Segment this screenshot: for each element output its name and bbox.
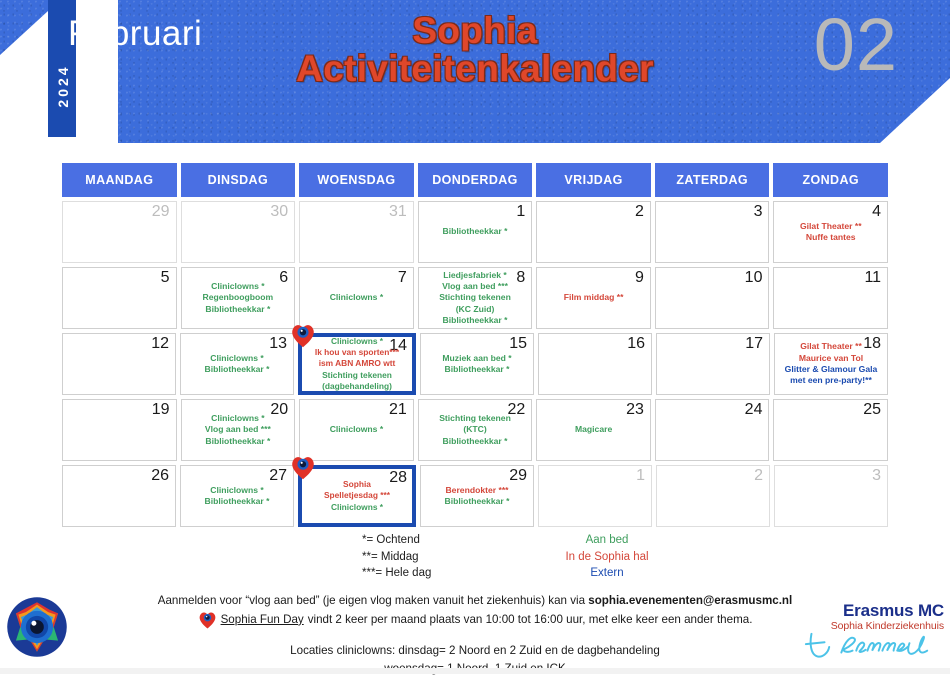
day-number: 24 xyxy=(745,401,763,419)
calendar-week-row: 1920Cliniclowns *Vlog aan bed ***Bibliot… xyxy=(62,399,888,461)
day-number: 16 xyxy=(627,335,645,353)
day-number: 25 xyxy=(863,401,881,419)
event-label: Bibliotheekkar * xyxy=(424,496,530,507)
day-header-donderdag: DONDERDAG xyxy=(418,163,533,197)
legend-timing-item: *= Ochtend xyxy=(362,532,512,549)
footer-email[interactable]: sophia.evenementen@erasmusmc.nl xyxy=(588,594,792,607)
event-label: Magicare xyxy=(540,424,647,435)
day-number: 29 xyxy=(152,203,170,221)
event-label: Cliniclowns * xyxy=(304,336,410,347)
event-label: Film middag ** xyxy=(540,292,647,303)
day-cell-18[interactable]: 18Gilat Theater **Maurice van TolGlitter… xyxy=(774,333,888,395)
calendar-weeks: 2930311Bibliotheekkar *234Gilat Theater … xyxy=(62,201,888,527)
event-label: Cliniclowns * xyxy=(185,281,292,292)
heart-eye-icon xyxy=(198,611,217,629)
day-cell-1[interactable]: 1 xyxy=(538,465,652,527)
day-events: Liedjesfabriek *Vlog aan bed ***Stichtin… xyxy=(422,270,529,326)
footer-funday-link[interactable]: Sophia Fun Day xyxy=(221,611,304,630)
event-label: Cliniclowns * xyxy=(303,424,410,435)
legend-locations: Aan bedIn de Sophia halExtern xyxy=(517,532,697,582)
day-cell-4[interactable]: 4Gilat Theater **Nuffe tantes xyxy=(773,201,888,263)
calendar-grid: MAANDAGDINSDAGWOENSDAGDONDERDAGVRIJDAGZA… xyxy=(62,163,888,531)
event-label: (KTC) xyxy=(422,424,529,435)
day-cell-14[interactable]: 14Cliniclowns *Ik hou van sporten***ism … xyxy=(298,333,416,395)
day-cell-30[interactable]: 30 xyxy=(181,201,296,263)
day-number: 2 xyxy=(635,203,644,221)
day-events: SophiaSpelletjesdag ***Cliniclowns * xyxy=(304,470,410,522)
day-cell-20[interactable]: 20Cliniclowns *Vlog aan bed ***Bibliothe… xyxy=(181,399,296,461)
event-label: Regenboogboom xyxy=(185,292,292,303)
day-number: 26 xyxy=(151,467,169,485)
event-label: Bibliotheekkar * xyxy=(422,436,529,447)
bottom-rule xyxy=(0,668,950,674)
event-label: Glitter & Glamour Gala xyxy=(778,364,884,375)
event-label: Bibliotheekkar * xyxy=(184,496,290,507)
sophia-fun-day-logo xyxy=(6,596,68,658)
day-number: 19 xyxy=(152,401,170,419)
erasmus-mc-name: Erasmus MC xyxy=(804,602,944,619)
calendar-week-row: 2930311Bibliotheekkar *234Gilat Theater … xyxy=(62,201,888,263)
day-cell-28[interactable]: 28SophiaSpelletjesdag ***Cliniclowns * xyxy=(298,465,416,527)
day-number: 31 xyxy=(389,203,407,221)
day-cell-15[interactable]: 15Muziek aan bed *Bibliotheekkar * xyxy=(420,333,534,395)
event-label: Sophia xyxy=(304,479,410,490)
erasmus-script-mark xyxy=(804,630,944,667)
day-cell-22[interactable]: 22Stichting tekenen(KTC)Bibliotheekkar * xyxy=(418,399,533,461)
day-cell-2[interactable]: 2 xyxy=(536,201,651,263)
day-cell-3[interactable]: 3 xyxy=(774,465,888,527)
event-label: Bibliotheekkar * xyxy=(185,304,292,315)
legend-location-item: In de Sophia hal xyxy=(517,549,697,566)
day-number: 11 xyxy=(864,269,881,287)
legend-timing-item: **= Middag xyxy=(362,549,512,566)
day-events: Cliniclowns *Bibliotheekkar * xyxy=(184,468,290,524)
legend-location-item: Aan bed xyxy=(517,532,697,549)
day-number: 3 xyxy=(754,203,763,221)
heart-eye-icon xyxy=(290,323,316,348)
day-header-vrijdag: VRIJDAG xyxy=(536,163,651,197)
day-cell-19[interactable]: 19 xyxy=(62,399,177,461)
day-cell-23[interactable]: 23Magicare xyxy=(536,399,651,461)
month-number: 02 xyxy=(814,2,898,87)
day-cell-3[interactable]: 3 xyxy=(655,201,770,263)
event-label: Ik hou van sporten*** xyxy=(304,347,410,358)
day-cell-2[interactable]: 2 xyxy=(656,465,770,527)
event-label: Cliniclowns * xyxy=(304,502,410,513)
event-label: Nuffe tantes xyxy=(777,232,884,243)
day-cell-24[interactable]: 24 xyxy=(655,399,770,461)
erasmus-mc-logo: Erasmus MC Sophia Kinderziekenhuis xyxy=(804,602,944,668)
legend-timing: *= Ochtend**= Middag***= Hele dag xyxy=(362,532,512,582)
day-events: Cliniclowns *Ik hou van sporten***ism AB… xyxy=(304,338,410,390)
event-label: Gilat Theater ** xyxy=(778,341,884,352)
day-events: Cliniclowns *Vlog aan bed ***Bibliotheek… xyxy=(185,402,292,458)
day-events: Gilat Theater **Maurice van TolGlitter &… xyxy=(778,336,884,392)
event-label: Muziek aan bed * xyxy=(424,353,530,364)
day-header-dinsdag: DINSDAG xyxy=(181,163,296,197)
footer-signup-text: Aanmelden voor “vlog aan bed” (je eigen … xyxy=(158,594,589,607)
calendar-day-headers: MAANDAGDINSDAGWOENSDAGDONDERDAGVRIJDAGZA… xyxy=(62,163,888,197)
day-header-maandag: MAANDAG xyxy=(62,163,177,197)
day-cell-25[interactable]: 25 xyxy=(773,399,888,461)
day-number: 5 xyxy=(161,269,170,287)
month-name: Februari xyxy=(68,14,202,54)
event-label: Bibliotheekkar * xyxy=(424,364,530,375)
event-label: Berendokter *** xyxy=(424,485,530,496)
event-label: met een pre-party!** xyxy=(778,375,884,386)
day-cell-27[interactable]: 27Cliniclowns *Bibliotheekkar * xyxy=(180,465,294,527)
day-number: 30 xyxy=(270,203,288,221)
day-events: Cliniclowns *Bibliotheekkar * xyxy=(184,336,290,392)
event-label: Liedjesfabriek * xyxy=(422,270,529,281)
day-events: Gilat Theater **Nuffe tantes xyxy=(777,204,884,260)
event-label: Stichting tekenen xyxy=(304,370,410,381)
page-header: 2024 Februari 02 Sophia Activiteitenkale… xyxy=(0,0,950,150)
day-header-woensdag: WOENSDAG xyxy=(299,163,414,197)
day-cell-13[interactable]: 13Cliniclowns *Bibliotheekkar * xyxy=(180,333,294,395)
legend-location-item: Extern xyxy=(517,565,697,582)
day-events: Film middag ** xyxy=(540,270,647,326)
calendar-week-row: 56Cliniclowns *RegenboogboomBibliotheekk… xyxy=(62,267,888,329)
calendar-week-row: 1213Cliniclowns *Bibliotheekkar *14Clini… xyxy=(62,333,888,395)
day-cell-10[interactable]: 10 xyxy=(655,267,770,329)
day-cell-6[interactable]: 6Cliniclowns *RegenboogboomBibliotheekka… xyxy=(181,267,296,329)
event-label: Stichting tekenen xyxy=(422,292,529,303)
day-cell-26[interactable]: 26 xyxy=(62,465,176,527)
day-header-zondag: ZONDAG xyxy=(773,163,888,197)
day-events: Stichting tekenen(KTC)Bibliotheekkar * xyxy=(422,402,529,458)
event-label: Spelletjesdag *** xyxy=(304,490,410,501)
day-events: Magicare xyxy=(540,402,647,458)
day-events: Bibliotheekkar * xyxy=(422,204,529,260)
event-label: Stichting tekenen xyxy=(422,413,529,424)
event-label: Cliniclowns * xyxy=(303,292,410,303)
day-cell-8[interactable]: 8Liedjesfabriek *Vlog aan bed ***Stichti… xyxy=(418,267,533,329)
event-label: (KC Zuid) xyxy=(422,304,529,315)
day-events: Muziek aan bed *Bibliotheekkar * xyxy=(424,336,530,392)
heart-eye-icon xyxy=(290,455,316,480)
day-events: Cliniclowns * xyxy=(303,270,410,326)
day-cell-21[interactable]: 21Cliniclowns * xyxy=(299,399,414,461)
event-label: Maurice van Tol xyxy=(778,353,884,364)
event-label: Cliniclowns * xyxy=(184,485,290,496)
day-cell-16[interactable]: 16 xyxy=(538,333,652,395)
event-label: Bibliotheekkar * xyxy=(422,315,529,326)
day-number: 3 xyxy=(872,467,881,485)
footer-funday-text: vindt 2 keer per maand plaats van 10:00 … xyxy=(308,611,753,630)
day-cell-9[interactable]: 9Film middag ** xyxy=(536,267,651,329)
event-label: Vlog aan bed *** xyxy=(185,424,292,435)
day-number: 17 xyxy=(745,335,763,353)
day-number: 2 xyxy=(754,467,763,485)
day-cell-5[interactable]: 5 xyxy=(62,267,177,329)
event-label: Bibliotheekkar * xyxy=(185,436,292,447)
day-events: Berendokter ***Bibliotheekkar * xyxy=(424,468,530,524)
legend-timing-item: ***= Hele dag xyxy=(362,565,512,582)
day-cell-29[interactable]: 29Berendokter ***Bibliotheekkar * xyxy=(420,465,534,527)
day-cell-29[interactable]: 29 xyxy=(62,201,177,263)
day-cell-7[interactable]: 7Cliniclowns * xyxy=(299,267,414,329)
day-number: 10 xyxy=(745,269,763,287)
event-label: Vlog aan bed *** xyxy=(422,281,529,292)
day-cell-31[interactable]: 31 xyxy=(299,201,414,263)
day-cell-17[interactable]: 17 xyxy=(656,333,770,395)
day-cell-12[interactable]: 12 xyxy=(62,333,176,395)
day-number: 1 xyxy=(636,467,645,485)
event-label: Bibliotheekkar * xyxy=(422,226,529,237)
day-number: 12 xyxy=(151,335,169,353)
event-label: Cliniclowns * xyxy=(185,413,292,424)
event-label: Cliniclowns * xyxy=(184,353,290,364)
event-label: ism ABN AMRO wtt xyxy=(304,358,410,369)
day-cell-11[interactable]: 11 xyxy=(773,267,888,329)
event-label: (dagbehandeling) xyxy=(304,381,410,392)
day-cell-1[interactable]: 1Bibliotheekkar * xyxy=(418,201,533,263)
event-label: Bibliotheekkar * xyxy=(184,364,290,375)
calendar-week-row: 2627Cliniclowns *Bibliotheekkar *28Sophi… xyxy=(62,465,888,527)
day-events: Cliniclowns *RegenboogboomBibliotheekkar… xyxy=(185,270,292,326)
legend: *= Ochtend**= Middag***= Hele dag Aan be… xyxy=(62,532,888,580)
day-header-zaterdag: ZATERDAG xyxy=(655,163,770,197)
day-events: Cliniclowns * xyxy=(303,402,410,458)
event-label: Gilat Theater ** xyxy=(777,221,884,232)
